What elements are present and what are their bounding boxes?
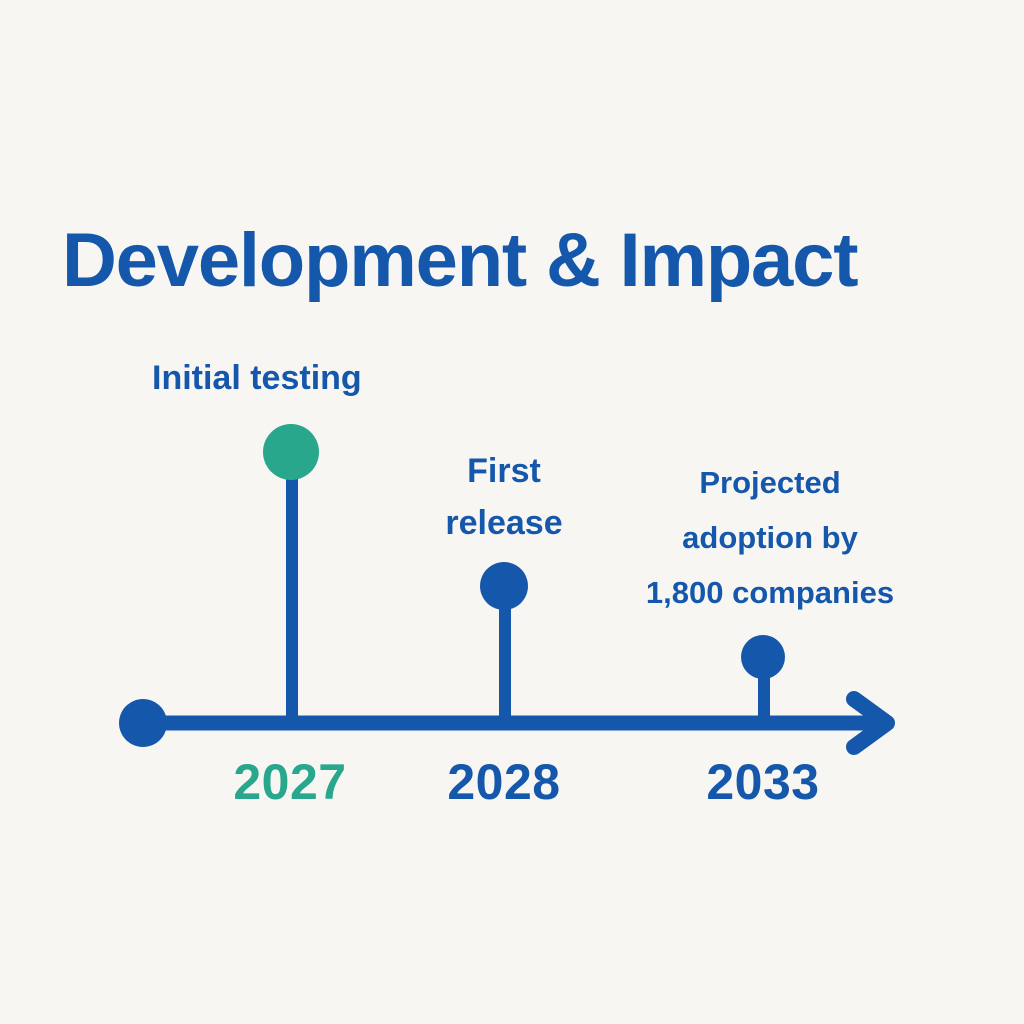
timeline-dot-2027[interactable] [263,424,319,480]
timeline-infographic: Development & Impact Initial testing Fir… [0,0,1024,1024]
event-label-first-release: First release [404,445,604,549]
event-label-initial-testing: Initial testing [152,358,362,398]
year-label-2033: 2033 [643,752,883,812]
year-label-2028: 2028 [384,752,624,812]
event-label-projected-adoption: Projected adoption by 1,800 companies [594,455,946,620]
year-label-2027: 2027 [170,752,410,812]
timeline-dot-2033[interactable] [741,635,785,679]
timeline-start-dot [119,699,167,747]
timeline-dot-2028[interactable] [480,562,528,610]
